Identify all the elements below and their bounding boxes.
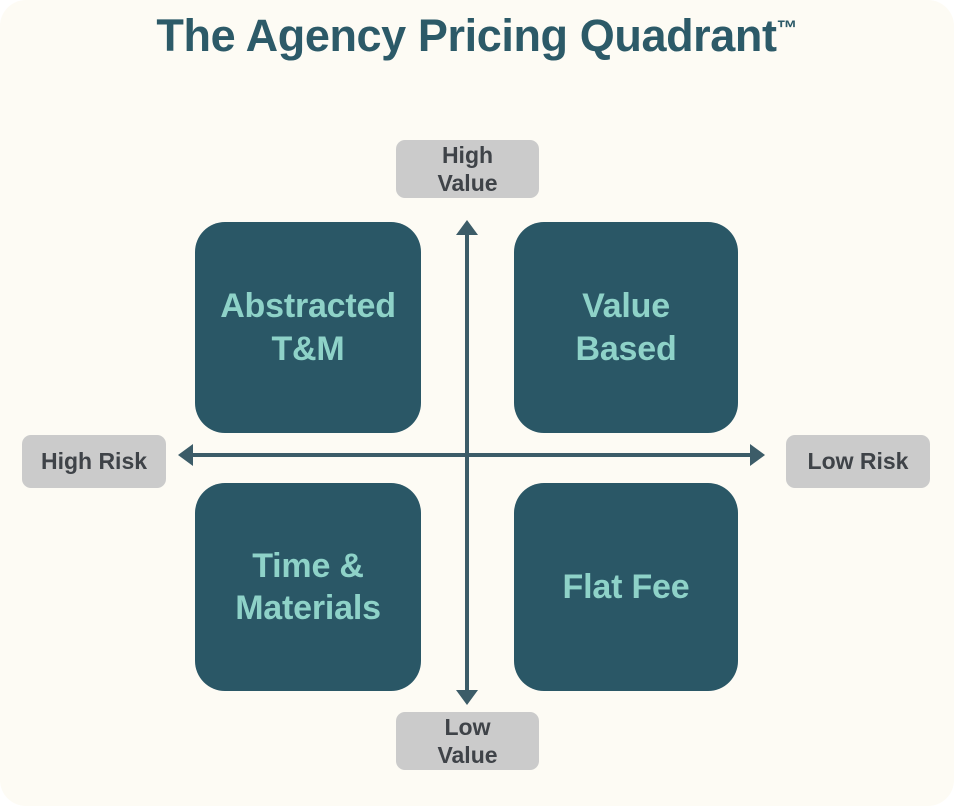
quadrant-label-line1: Time & [252,547,364,585]
axis-label-low-risk: Low Risk [786,435,930,488]
quadrant-label: Abstracted T&M [220,285,396,369]
quadrant-label: Time & Materials [235,545,381,629]
quadrant-label: Flat Fee [563,566,690,608]
quadrant-label-line2: T&M [271,330,344,368]
horizontal-axis-line [186,453,752,457]
axis-label-line1: Low [444,714,490,740]
quadrant-diagram-canvas: The Agency Pricing Quadrant™ Abstracted … [0,0,954,806]
arrow-left-icon [178,444,193,466]
axis-label-text: Low Value [437,713,497,769]
page-title-text: The Agency Pricing Quadrant [156,10,776,61]
axis-label-high-value: High Value [396,140,539,198]
quadrant-time-and-materials[interactable]: Time & Materials [195,483,421,691]
quadrant-value-based[interactable]: Value Based [514,222,738,433]
axis-label-line2: Value [437,742,497,768]
quadrant-flat-fee[interactable]: Flat Fee [514,483,738,691]
quadrant-abstracted-tm[interactable]: Abstracted T&M [195,222,421,433]
axis-label-high-risk: High Risk [22,435,166,488]
axis-label-line1: High [442,142,493,168]
arrow-up-icon [456,220,478,235]
axis-label-text: High Value [437,141,497,197]
axis-label-low-value: Low Value [396,712,539,770]
page-title: The Agency Pricing Quadrant™ [0,10,954,62]
quadrant-label-line1: Abstracted [220,287,396,325]
vertical-axis-line [465,228,469,696]
arrow-down-icon [456,690,478,705]
quadrant-label-line1: Flat Fee [563,568,690,606]
quadrant-label-line1: Value [582,287,670,325]
arrow-right-icon [750,444,765,466]
axis-label-text: Low Risk [808,447,909,475]
quadrant-label: Value Based [575,285,676,369]
axis-label-text: High Risk [41,447,147,475]
axis-label-line2: Value [437,170,497,196]
quadrant-label-line2: Based [575,330,676,368]
quadrant-label-line2: Materials [235,589,381,627]
trademark-symbol: ™ [777,17,798,40]
